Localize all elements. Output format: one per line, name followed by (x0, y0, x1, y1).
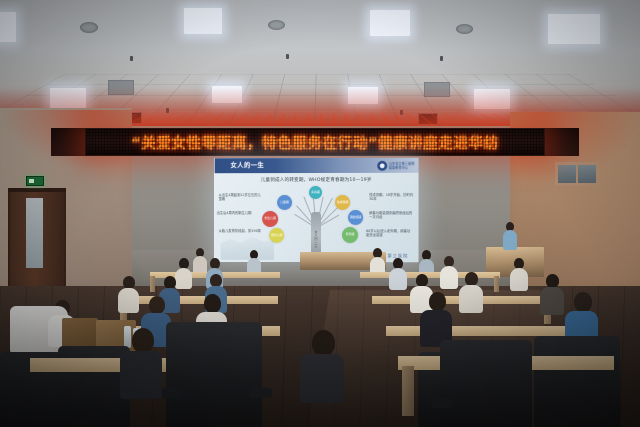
attendee-head (429, 292, 446, 311)
slide-note: 性成熟期，18岁开始，历时约30年 (369, 193, 413, 202)
desk-leg (494, 276, 499, 292)
slide-logo-line2: 健康教育中心 (389, 165, 408, 169)
attendee (370, 248, 385, 275)
slide-title: 女人的一生 (230, 160, 264, 169)
attendee-head (574, 292, 592, 312)
sprinkler-head (440, 56, 443, 61)
presenter-body (503, 230, 517, 250)
attendee (300, 330, 344, 402)
sprinkler-head (286, 54, 289, 59)
attendee (389, 258, 407, 289)
ceiling-speaker (80, 22, 98, 33)
slide-node: 青春期 (309, 186, 322, 199)
chair-armrest (250, 388, 272, 398)
slide-logo-text: 山东省立第三医院 健康教育中心 (389, 161, 415, 169)
led-banner-frame-left (51, 128, 85, 156)
attendee-body (118, 288, 139, 313)
led-banner-text: “关爱女性零距离，特色服务在行动”健康讲座走进华纺 (131, 132, 499, 153)
control-room-window (555, 162, 599, 186)
slide-note: 60岁以后进入老年期，卵巢功能完全衰退 (366, 229, 410, 238)
sprinkler-head (130, 56, 133, 61)
slide-node: 新生儿期 (262, 211, 278, 227)
slide-node: 性成熟期 (335, 195, 350, 210)
door-glass-panel (26, 198, 43, 268)
presenter (502, 222, 518, 252)
attendee-head (132, 328, 154, 353)
chair[interactable] (440, 340, 532, 427)
tree-trunk-label: 女人的一生 (314, 230, 319, 248)
attendee-body (440, 266, 458, 289)
projected-slide: 女人的一生 山东省立第三医院 健康教育中心 儿童到成人的转变期，WHO规定青春期… (215, 158, 419, 263)
hospital-emblem-icon (377, 160, 387, 170)
slide-note: 卵巢功能衰退到最终绝经后的一次月经 (369, 211, 413, 220)
desk-leg (150, 276, 155, 292)
attendee (193, 248, 207, 274)
attendee-head (465, 272, 478, 286)
led-banner-frame-right (545, 128, 579, 156)
ceiling-light-panel (370, 10, 410, 36)
exit-sign-icon (26, 176, 44, 186)
slide-note: 从胎儿发育阶段起，到194周 (219, 229, 263, 233)
slide-note: 出生后4周内的新生儿期 (217, 211, 261, 215)
ceiling-light-panel (184, 8, 222, 34)
attendee-head (149, 296, 165, 314)
door-frame (8, 188, 66, 192)
attendee-head (546, 274, 559, 288)
attendee-body (389, 268, 407, 290)
slide-body: 儿童到成人的转变期，WHO规定青春期为10—19岁 女人的一生 青春期 儿童期 … (215, 173, 419, 263)
chair[interactable] (166, 322, 262, 427)
attendee-body (459, 285, 483, 313)
attendee (459, 272, 483, 312)
slide-node: 儿童期 (277, 195, 292, 210)
attendee-body (510, 268, 528, 291)
attendee (540, 274, 564, 314)
chair-armrest (432, 398, 452, 408)
projection-screen: 女人的一生 山东省立第三医院 健康教育中心 儿童到成人的转变期，WHO规定青春期… (214, 158, 418, 262)
attendee (118, 276, 139, 312)
ceiling-speaker (456, 24, 473, 34)
slide-header-bar: 女人的一生 山东省立第三医院 健康教育中心 (215, 158, 419, 174)
ceiling-light-panel (548, 14, 600, 44)
attendee (440, 256, 458, 288)
attendee (420, 292, 452, 346)
chair[interactable] (534, 336, 620, 427)
attendee-body (120, 351, 162, 399)
attendee-head (204, 294, 221, 313)
slide-node: 围绝经期 (348, 210, 363, 225)
slide-logo: 山东省立第三医院 健康教育中心 (377, 160, 415, 170)
attendee-body (540, 287, 564, 315)
desk-leg (402, 366, 414, 416)
slide-note: 从出生4周起到12岁左右的儿童期 (219, 193, 263, 202)
attendee-head (312, 330, 335, 356)
ceiling-speaker (268, 20, 285, 30)
slide-node: 老年期 (342, 227, 358, 243)
photo-scene: “关爱女性零距离，特色服务在行动”健康讲座走进华纺 女人的一生 山东省立第三医院… (0, 0, 640, 427)
ceiling-light-panel (0, 12, 16, 42)
attendee-body (300, 354, 344, 403)
led-banner: “关爱女性零距离，特色服务在行动”健康讲座走进华纺 (85, 128, 545, 156)
attendee (120, 328, 162, 398)
attendee (510, 258, 528, 290)
slide-lead-text: 儿童到成人的转变期，WHO规定青春期为10—19岁 (215, 177, 419, 183)
